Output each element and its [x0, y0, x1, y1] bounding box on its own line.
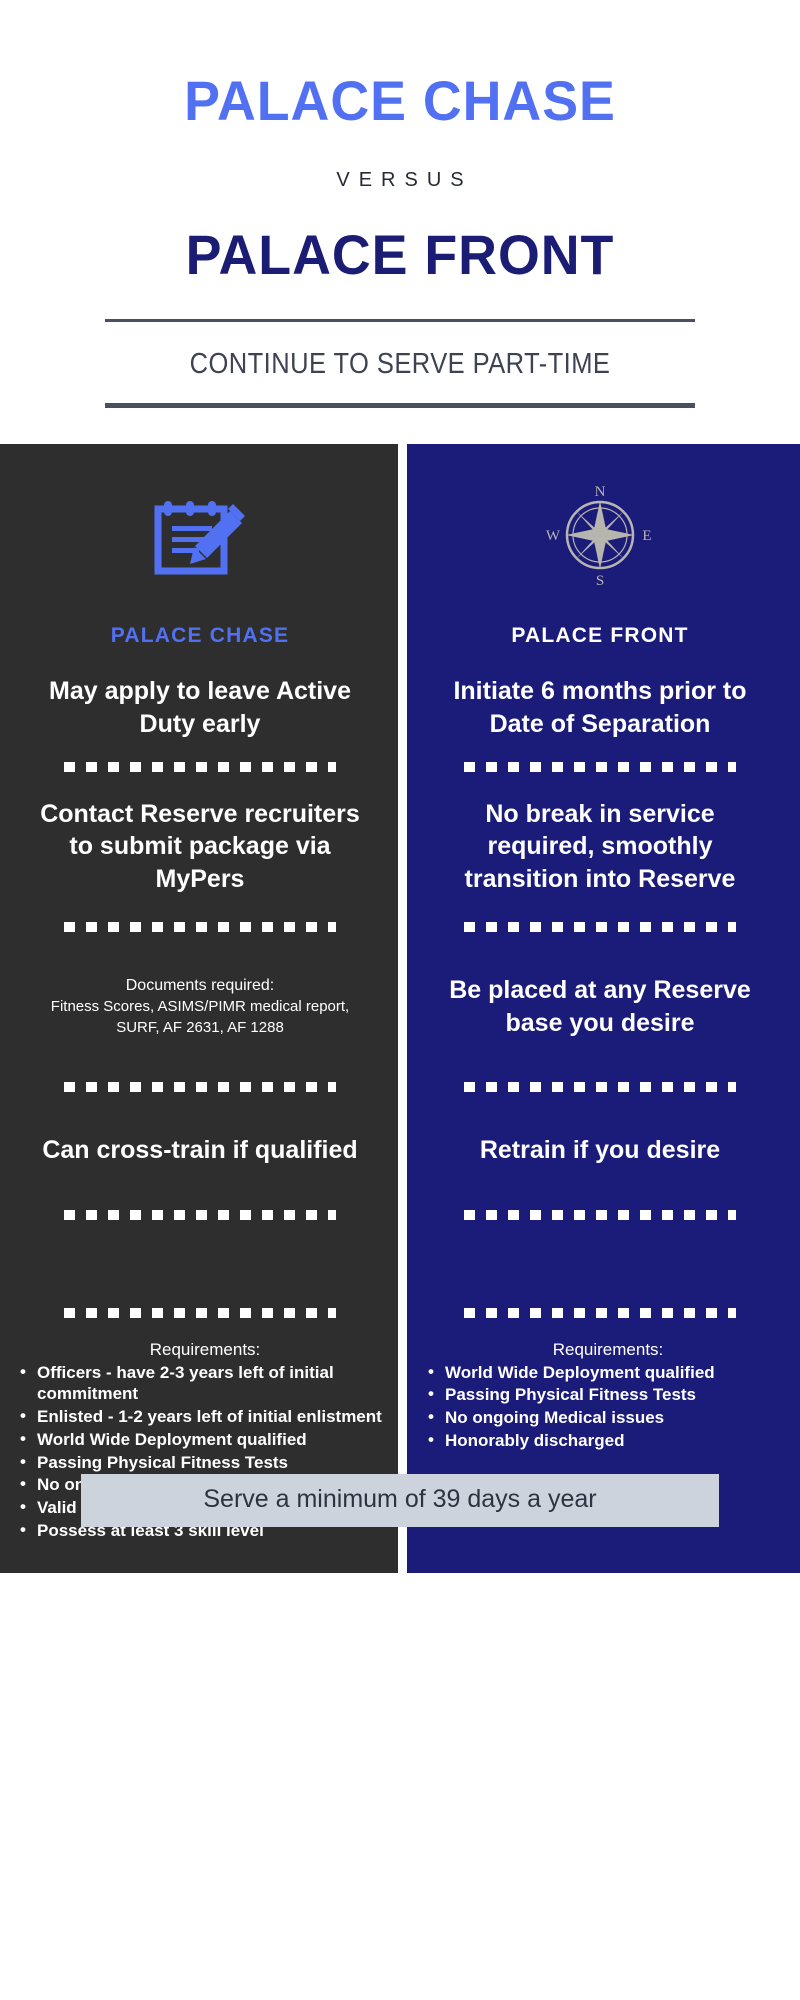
left-row-4: Can cross-train if qualified	[0, 1092, 400, 1210]
list-item: World Wide Deployment qualified	[426, 1362, 790, 1384]
list-item: Officers - have 2-3 years left of initia…	[18, 1362, 392, 1406]
svg-text:N: N	[595, 484, 606, 500]
svg-text:E: E	[642, 528, 651, 544]
list-item: No ongoing Medical issues	[426, 1407, 790, 1429]
list-item: Passing Physical Fitness Tests	[18, 1452, 392, 1474]
highlight-bar: Serve a minimum of 39 days a year	[81, 1474, 719, 1527]
dash-separator-left-5	[64, 1308, 336, 1318]
right-icon-row: N S W E	[400, 444, 800, 624]
list-item: Enlisted - 1-2 years left of initial enl…	[18, 1406, 392, 1428]
compass-rose-icon: N S W E	[545, 479, 655, 589]
column-heading-right: PALACE FRONT	[400, 624, 800, 654]
dash-separator-left-1	[64, 762, 336, 772]
left-row-3: Documents required: Fitness Scores, ASIM…	[0, 932, 400, 1082]
left-row-1: May apply to leave Active Duty early	[0, 654, 400, 762]
column-divider	[398, 444, 407, 1573]
right-row-4: Retrain if you desire	[400, 1092, 800, 1210]
dash-separator-right-1	[464, 762, 736, 772]
column-heading-left: PALACE CHASE	[0, 624, 400, 654]
svg-text:S: S	[596, 573, 604, 589]
requirements-right: Requirements: World Wide Deployment qual…	[400, 1318, 800, 1483]
comparison-panel: PALACE CHASE May apply to leave Active D…	[0, 444, 800, 1573]
dash-separator-left-2	[64, 922, 336, 932]
versus-label: VERSUS	[0, 169, 800, 192]
page-title-secondary: PALACE FRONT	[16, 226, 784, 285]
highlight-bar-wrap: Serve a minimum of 39 days a year	[0, 1474, 800, 1527]
left-icon-row	[0, 444, 400, 624]
svg-text:W: W	[546, 528, 561, 544]
divider-top	[105, 319, 695, 322]
documents-required-body: Fitness Scores, ASIMS/PIMR medical repor…	[30, 996, 370, 1038]
requirements-left-title: Requirements:	[18, 1340, 392, 1360]
column-palace-chase: PALACE CHASE May apply to leave Active D…	[0, 444, 400, 1573]
dash-separator-right-3	[464, 1082, 736, 1092]
dash-separator-right-2	[464, 922, 736, 932]
left-row-2: Contact Reserve recruiters to submit pac…	[0, 772, 400, 922]
list-item: Passing Physical Fitness Tests	[426, 1384, 790, 1406]
notepad-pencil-icon	[145, 479, 255, 589]
documents-required-title: Documents required:	[30, 975, 370, 997]
right-row-3: Be placed at any Reserve base you desire	[400, 932, 800, 1082]
list-item: Honorably discharged	[426, 1430, 790, 1452]
requirements-right-list: World Wide Deployment qualifiedPassing P…	[426, 1362, 790, 1452]
page-title-primary: PALACE CHASE	[16, 72, 784, 131]
right-row-2: No break in service required, smoothly t…	[400, 772, 800, 922]
dash-separator-right-4	[464, 1210, 736, 1220]
list-item: World Wide Deployment qualified	[18, 1429, 392, 1451]
dash-separator-right-5	[464, 1308, 736, 1318]
dash-separator-left-3	[64, 1082, 336, 1092]
header: PALACE CHASE VERSUS PALACE FRONT CONTINU…	[0, 0, 800, 408]
dash-separator-left-4	[64, 1210, 336, 1220]
column-palace-front: N S W E	[400, 444, 800, 1573]
page-subtitle: CONTINUE TO SERVE PART-TIME	[48, 348, 752, 381]
divider-bottom	[105, 403, 695, 408]
requirements-left: Requirements: Officers - have 2-3 years …	[0, 1318, 400, 1573]
right-row-1: Initiate 6 months prior to Date of Separ…	[400, 654, 800, 762]
requirements-right-title: Requirements:	[426, 1340, 790, 1360]
